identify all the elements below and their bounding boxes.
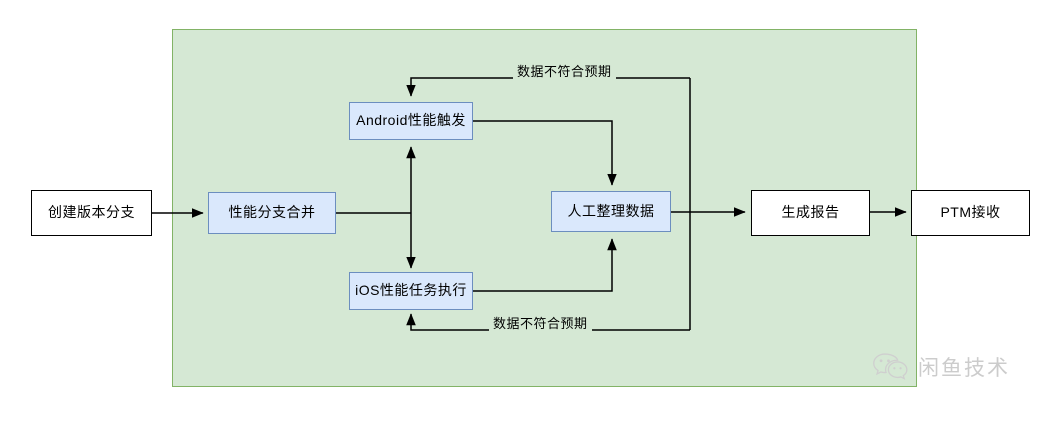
edge-label-bottom-feedback: 数据不符合预期: [489, 313, 592, 332]
node-create-branch[interactable]: 创建版本分支: [31, 190, 152, 236]
node-create-branch-label: 创建版本分支: [48, 205, 135, 220]
node-manual-data[interactable]: 人工整理数据: [551, 191, 671, 232]
node-generate-report[interactable]: 生成报告: [751, 190, 870, 236]
node-generate-report-label: 生成报告: [782, 205, 840, 220]
node-ios-task[interactable]: iOS性能任务执行: [349, 272, 473, 310]
node-android-trigger-label: Android性能触发: [356, 113, 466, 128]
wechat-icon: [872, 352, 910, 382]
edge-label-top-feedback: 数据不符合预期: [513, 61, 616, 80]
watermark-text: 闲鱼技术: [918, 352, 1010, 382]
node-manual-data-label: 人工整理数据: [568, 204, 655, 219]
node-ptm-receive[interactable]: PTM接收: [911, 190, 1030, 236]
watermark: 闲鱼技术: [872, 352, 1010, 382]
node-merge-branch-label: 性能分支合并: [229, 205, 316, 220]
flowchart-canvas: 创建版本分支 性能分支合并 Android性能触发 iOS性能任务执行 人工整理…: [0, 0, 1061, 421]
node-ptm-receive-label: PTM接收: [940, 205, 1000, 220]
node-merge-branch[interactable]: 性能分支合并: [208, 192, 336, 234]
node-android-trigger[interactable]: Android性能触发: [349, 102, 473, 140]
node-ios-task-label: iOS性能任务执行: [355, 283, 467, 298]
